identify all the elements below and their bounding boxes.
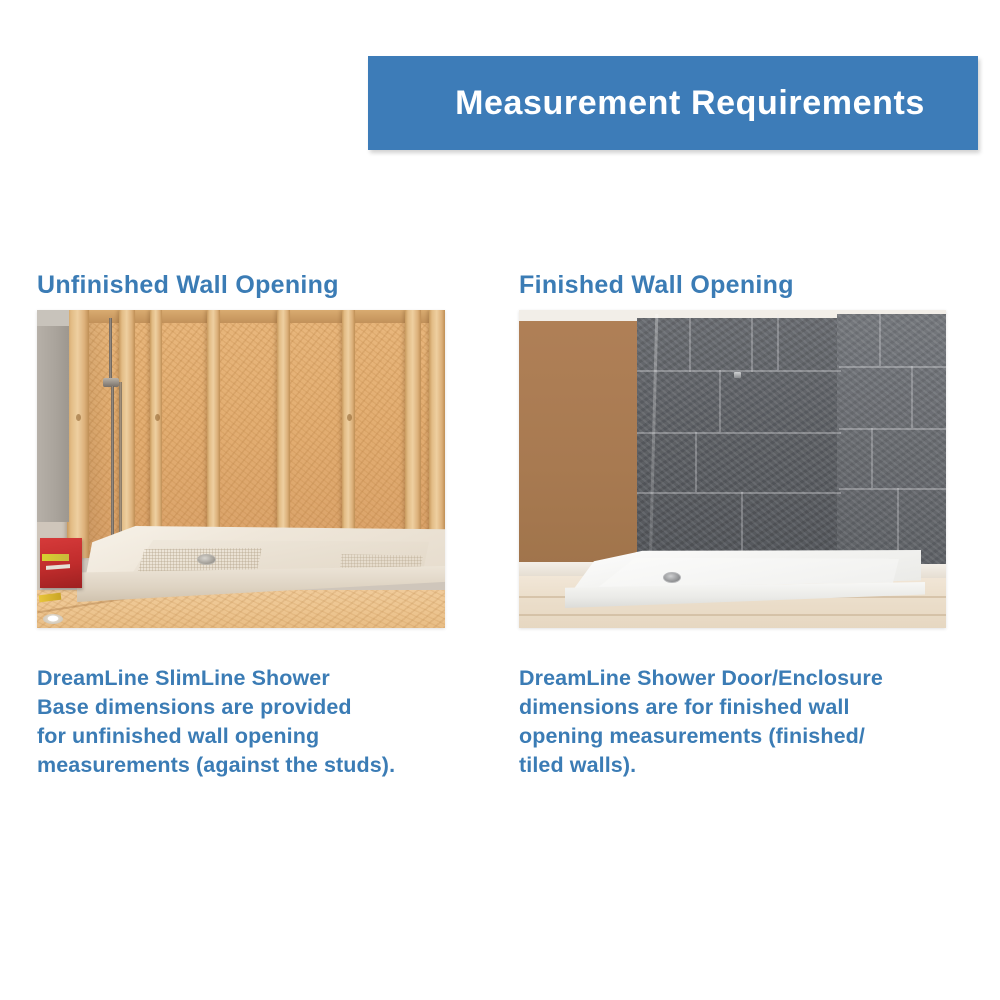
caption-finished-wall-opening: DreamLine Shower Door/Enclosure dimensio… <box>519 664 949 780</box>
wall-stud <box>405 310 421 558</box>
column-finished-wall-opening: Finished Wall Opening <box>519 266 949 780</box>
grout-line <box>751 318 753 372</box>
toolbox-handle <box>46 564 70 570</box>
page-title: Measurement Requirements <box>368 84 978 123</box>
grout-line <box>689 318 691 372</box>
caption-unfinished-wall-opening: DreamLine SlimLine Shower Base dimension… <box>37 664 457 780</box>
shower-supply-pipe <box>119 382 122 536</box>
heading-unfinished-wall-opening: Unfinished Wall Opening <box>37 266 457 310</box>
shower-supply-pipe <box>109 318 112 380</box>
wall-stud <box>67 310 89 558</box>
tape-roll <box>43 614 63 624</box>
tiled-back-wall <box>637 318 839 568</box>
grout-line <box>719 370 721 432</box>
heading-finished-wall-opening: Finished Wall Opening <box>519 266 949 310</box>
red-toolbox <box>40 538 82 588</box>
shower-drain-icon <box>663 572 681 583</box>
shower-supply-pipe <box>111 386 114 536</box>
slimline-shower-base <box>77 526 445 602</box>
adjacent-drywall <box>37 310 69 522</box>
grout-line <box>777 314 779 370</box>
grout-line <box>911 366 913 428</box>
adjacent-drywall-top <box>37 310 69 326</box>
wall-stud <box>277 310 290 558</box>
finished-wall-opening-photo <box>519 310 946 628</box>
header-banner: Measurement Requirements <box>368 56 978 150</box>
toolbox-label <box>42 554 69 561</box>
grout-line <box>871 428 873 488</box>
unfinished-wall-opening-photo <box>37 310 445 628</box>
wall-fixture-icon <box>734 372 741 378</box>
grout-line <box>839 428 946 430</box>
floor-tile-line <box>519 614 946 616</box>
grout-line <box>695 432 697 492</box>
grout-line <box>897 488 899 560</box>
tiled-right-wall <box>837 314 946 566</box>
brown-painted-wall-left <box>519 310 637 568</box>
shower-drain-icon <box>197 554 216 565</box>
column-unfinished-wall-opening: Unfinished Wall Opening <box>37 266 457 780</box>
grout-line <box>637 492 841 494</box>
grout-line <box>637 432 841 434</box>
wall-stud <box>207 310 220 558</box>
grout-line <box>839 488 946 490</box>
grout-line <box>879 314 881 366</box>
wall-stud <box>150 310 162 558</box>
corner-post-lumber <box>429 310 445 558</box>
grout-line <box>839 366 946 368</box>
wall-stud <box>342 310 355 558</box>
